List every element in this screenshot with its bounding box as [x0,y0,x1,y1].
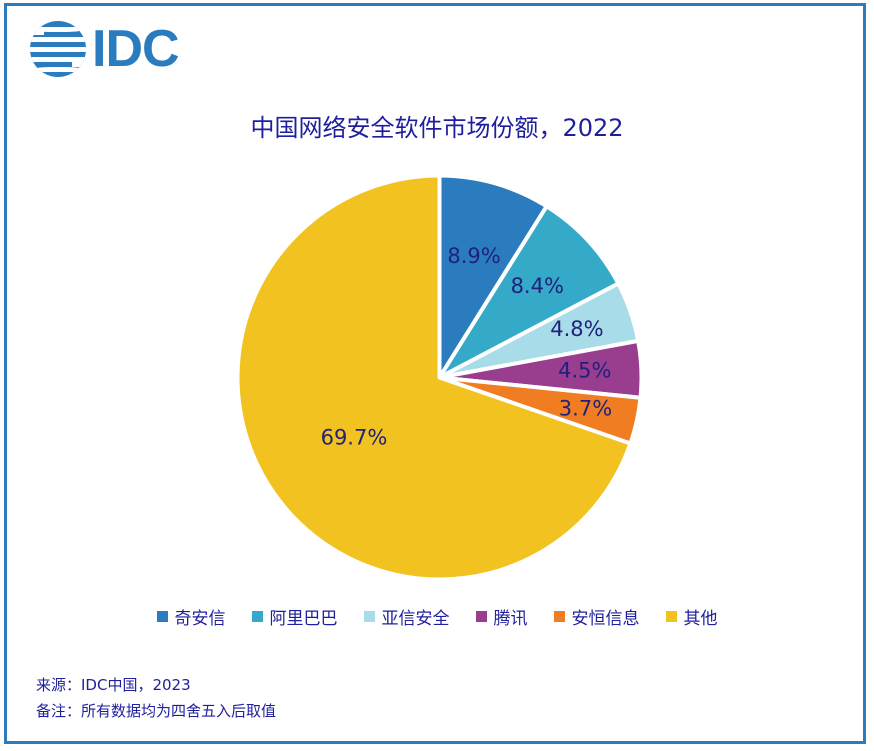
idc-wordmark: IDC [92,23,179,75]
legend-item-label: 其他 [684,604,718,629]
pie-slice-label: 69.7% [321,425,388,449]
legend-item-label: 腾讯 [494,604,528,629]
legend-item-label: 阿里巴巴 [270,604,338,629]
legend-swatch-icon [364,611,375,622]
chart-title: 中国网络安全软件市场份额，2022 [0,108,874,143]
pie-slice-label: 4.8% [550,317,603,341]
idc-globe-icon [30,21,86,77]
pie-chart: 8.9%8.4%4.8%4.5%3.7%69.7% [232,170,647,585]
legend-swatch-icon [554,611,565,622]
legend-swatch-icon [252,611,263,622]
legend-swatch-icon [157,611,168,622]
pie-slice-label: 4.5% [558,359,611,383]
legend-swatch-icon [476,611,487,622]
slide-canvas: IDC 中国网络安全软件市场份额，2022 8.9%8.4%4.8%4.5%3.… [0,0,874,751]
footnotes: 来源：IDC中国，2023 备注：所有数据均为四舍五入后取值 [36,672,276,724]
pie-slice-label: 8.9% [447,244,500,268]
legend-swatch-icon [666,611,677,622]
legend-item[interactable]: 其他 [666,604,718,629]
legend-item-label: 奇安信 [175,604,226,629]
footnote-note: 备注：所有数据均为四舍五入后取值 [36,698,276,724]
chart-legend: 奇安信阿里巴巴亚信安全腾讯安恒信息其他 [0,604,874,629]
pie-slice-label: 8.4% [511,274,564,298]
pie-chart-svg: 8.9%8.4%4.8%4.5%3.7%69.7% [232,170,647,585]
footnote-source: 来源：IDC中国，2023 [36,672,276,698]
idc-logo: IDC [30,20,179,78]
legend-item[interactable]: 奇安信 [157,604,226,629]
legend-item[interactable]: 阿里巴巴 [252,604,338,629]
legend-item-label: 安恒信息 [572,604,640,629]
pie-slice-label: 3.7% [559,397,612,421]
legend-item[interactable]: 安恒信息 [554,604,640,629]
legend-item-label: 亚信安全 [382,604,450,629]
legend-item[interactable]: 腾讯 [476,604,528,629]
legend-item[interactable]: 亚信安全 [364,604,450,629]
